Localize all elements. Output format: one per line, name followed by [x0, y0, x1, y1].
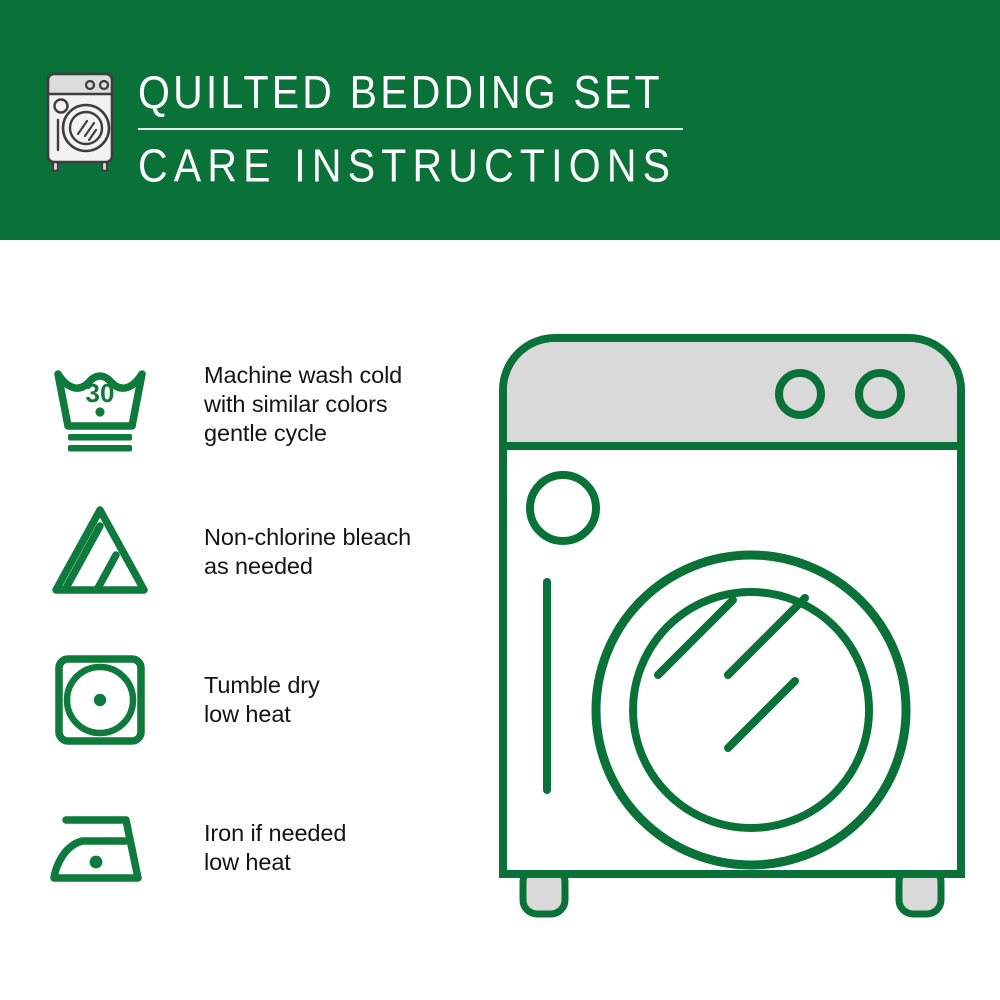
care-text-line: as needed: [204, 552, 411, 581]
tumble-dry-low-heat-icon: [44, 644, 156, 756]
washer-control-panel: [507, 342, 957, 446]
wash-tub-30-gentle-icon: 30: [44, 348, 156, 460]
care-text-line: Iron if needed: [204, 819, 346, 848]
care-instruction-list: 30 Machine wash cold with similar colors…: [44, 330, 504, 922]
care-text-line: gentle cycle: [204, 419, 402, 448]
care-text: Non-chlorine bleach as needed: [204, 523, 411, 581]
care-text-line: low heat: [204, 700, 320, 729]
care-text: Iron if needed low heat: [204, 819, 346, 877]
front-load-washing-machine-illustration: [495, 330, 975, 930]
non-chlorine-bleach-triangle-icon: [44, 496, 156, 608]
care-row: Iron if needed low heat: [44, 774, 504, 922]
care-text-line: with similar colors: [204, 390, 402, 419]
care-row: Non-chlorine bleach as needed: [44, 478, 504, 626]
washing-machine-logo-icon: [44, 70, 116, 174]
header-content: QUILTED BEDDING SET CARE INSTRUCTIONS: [44, 62, 683, 186]
care-text-line: Non-chlorine bleach: [204, 523, 411, 552]
care-row: 30 Machine wash cold with similar colors…: [44, 330, 504, 478]
care-text: Machine wash cold with similar colors ge…: [204, 361, 402, 448]
page-subtitle: CARE INSTRUCTIONS: [138, 140, 683, 192]
care-row: Tumble dry low heat: [44, 626, 504, 774]
care-text-line: Tumble dry: [204, 671, 320, 700]
wash-temperature-value: 30: [86, 378, 115, 408]
iron-low-heat-icon: [44, 792, 156, 904]
page-title: QUILTED BEDDING SET: [138, 66, 683, 118]
care-text: Tumble dry low heat: [204, 671, 320, 729]
header-banner: QUILTED BEDDING SET CARE INSTRUCTIONS: [0, 0, 1000, 240]
header-titles: QUILTED BEDDING SET CARE INSTRUCTIONS: [138, 62, 683, 186]
care-text-line: Machine wash cold: [204, 361, 402, 390]
title-divider: [138, 128, 683, 130]
care-text-line: low heat: [204, 848, 346, 877]
care-instructions-infographic: QUILTED BEDDING SET CARE INSTRUCTIONS 30: [0, 0, 1000, 1000]
